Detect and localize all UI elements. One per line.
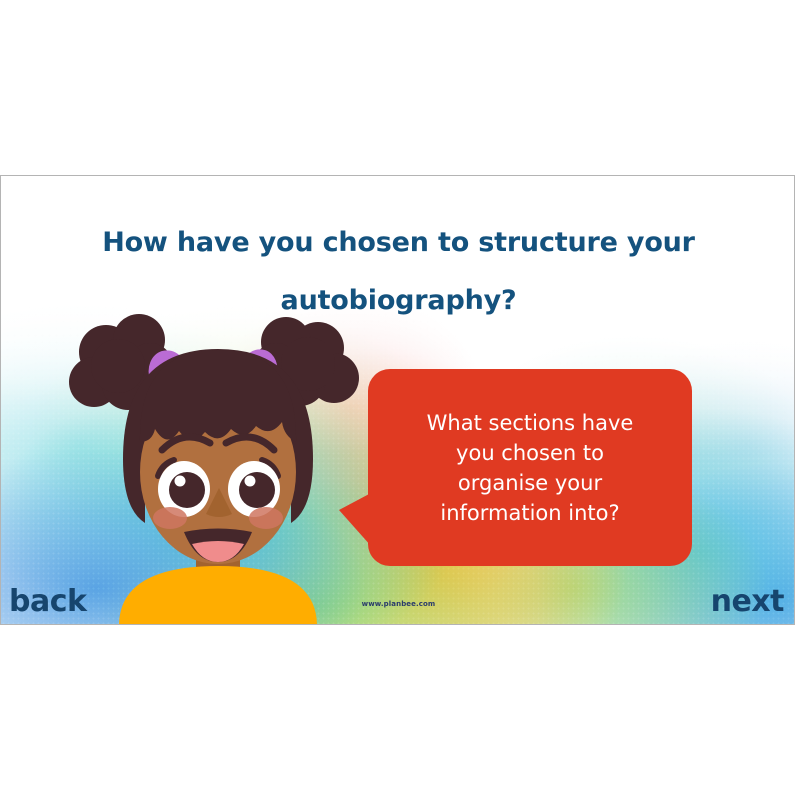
- slide-title: How have you chosen to structure your au…: [1, 214, 795, 330]
- bubble-line-2: you chosen to: [456, 438, 604, 468]
- shirt: [119, 566, 317, 625]
- speech-bubble-text: What sections have you chosen to organis…: [368, 369, 692, 566]
- character-illustration: [66, 304, 366, 625]
- title-line-2: autobiography?: [1, 272, 795, 330]
- bubble-line-1: What sections have: [427, 408, 634, 438]
- cheek-left: [153, 507, 187, 529]
- watermark-url: www.planbee.com: [1, 600, 795, 608]
- speech-bubble-tail: [339, 493, 371, 546]
- speech-bubble: What sections have you chosen to organis…: [368, 369, 692, 566]
- title-line-1: How have you chosen to structure your: [1, 214, 795, 272]
- bubble-line-3: organise your: [458, 468, 602, 498]
- cheek-right: [249, 507, 283, 529]
- slide-canvas: How have you chosen to structure your au…: [0, 175, 795, 625]
- bubble-line-4: information into?: [440, 498, 619, 528]
